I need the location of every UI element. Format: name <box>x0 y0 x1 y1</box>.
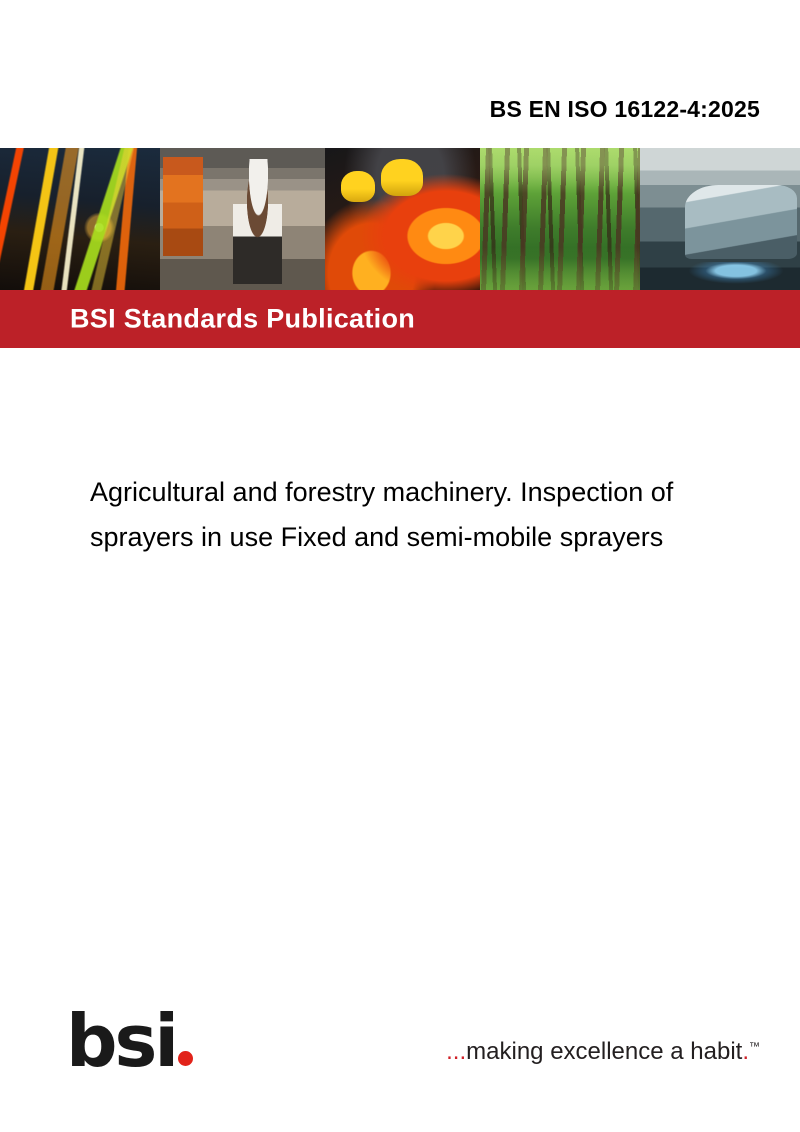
cover-image-strip <box>0 148 800 290</box>
document-title-line-1: Agricultural and forestry machinery. Ins… <box>90 470 800 515</box>
firefighters-with-hose-image <box>325 148 480 290</box>
night-traffic-light-trails-image <box>0 148 160 290</box>
tagline-ellipsis: ... <box>446 1038 466 1065</box>
document-title: Agricultural and forestry machinery. Ins… <box>90 470 800 560</box>
bsi-logo-wordmark: bsi <box>66 999 176 1083</box>
tagline-period: . <box>742 1038 749 1065</box>
document-title-line-2: sprayers in use Fixed and semi-mobile sp… <box>90 515 800 560</box>
car-assembly-line-image <box>640 148 800 290</box>
pine-forest-image <box>480 148 640 290</box>
banner-label: BSI Standards Publication <box>70 304 415 335</box>
trademark-icon: ™ <box>749 1041 760 1053</box>
bsi-logo-dot-icon <box>178 1051 193 1066</box>
bsi-tagline: ...making excellence a habit.™ <box>446 1038 760 1066</box>
warehouse-worker-image <box>160 148 325 290</box>
tagline-text: making excellence a habit <box>466 1038 742 1065</box>
bsi-standards-publication-banner: BSI Standards Publication <box>0 290 800 348</box>
standard-designation: BS EN ISO 16122-4:2025 <box>490 96 760 123</box>
bsi-logo: bsi <box>66 1006 196 1076</box>
